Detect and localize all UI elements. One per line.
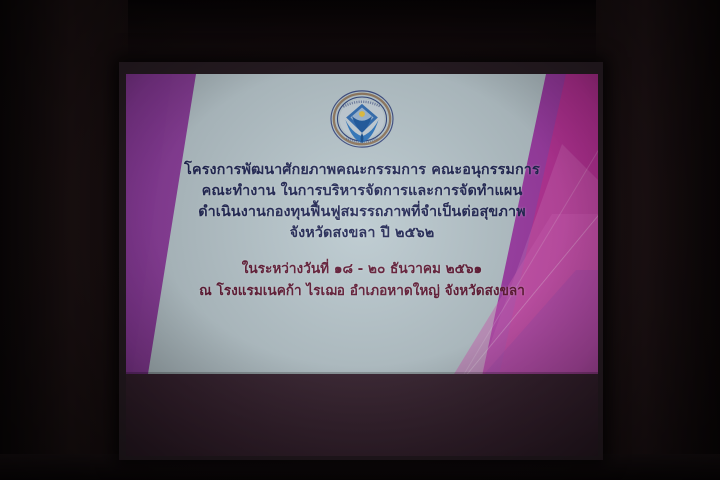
wall-right bbox=[596, 0, 720, 480]
slide-text-block: โครงการพัฒนาศักยภาพคณะกรรมการ คณะอนุกรรม… bbox=[126, 160, 598, 302]
logo-container bbox=[126, 88, 598, 150]
projected-slide: โครงการพัฒนาศักยภาพคณะกรรมการ คณะอนุกรรม… bbox=[126, 74, 598, 456]
subtitle-line-venue: ณ โรงแรมเนคก้า ไรเฌอ อำเภอหาดใหญ่ จังหวั… bbox=[126, 280, 598, 302]
title-line-2: คณะทำงาน ในการบริหารจัดการและการจัดทำแผน bbox=[126, 181, 598, 202]
slide-canvas: โครงการพัฒนาศักยภาพคณะกรรมการ คณะอนุกรรม… bbox=[126, 74, 598, 456]
room-scene: โครงการพัฒนาศักยภาพคณะกรรมการ คณะอนุกรรม… bbox=[0, 0, 720, 480]
wall-left bbox=[0, 0, 128, 480]
subtitle-line-date: ในระหว่างวันที่ ๑๘ - ๒๐ ธันวาคม ๒๕๖๑ bbox=[126, 258, 598, 280]
footer-band bbox=[126, 374, 598, 456]
title-line-1: โครงการพัฒนาศักยภาพคณะกรรมการ คณะอนุกรรม… bbox=[126, 160, 598, 181]
ministry-emblem-icon bbox=[325, 88, 399, 150]
slide-subtitle-block: ในระหว่างวันที่ ๑๘ - ๒๐ ธันวาคม ๒๕๖๑ ณ โ… bbox=[126, 258, 598, 302]
title-line-4: จังหวัดสงขลา ปี ๒๕๖๒ bbox=[126, 223, 598, 244]
title-line-3: ดำเนินงานกองทุนฟื้นฟูสมรรถภาพที่จำเป็นต่… bbox=[126, 202, 598, 223]
